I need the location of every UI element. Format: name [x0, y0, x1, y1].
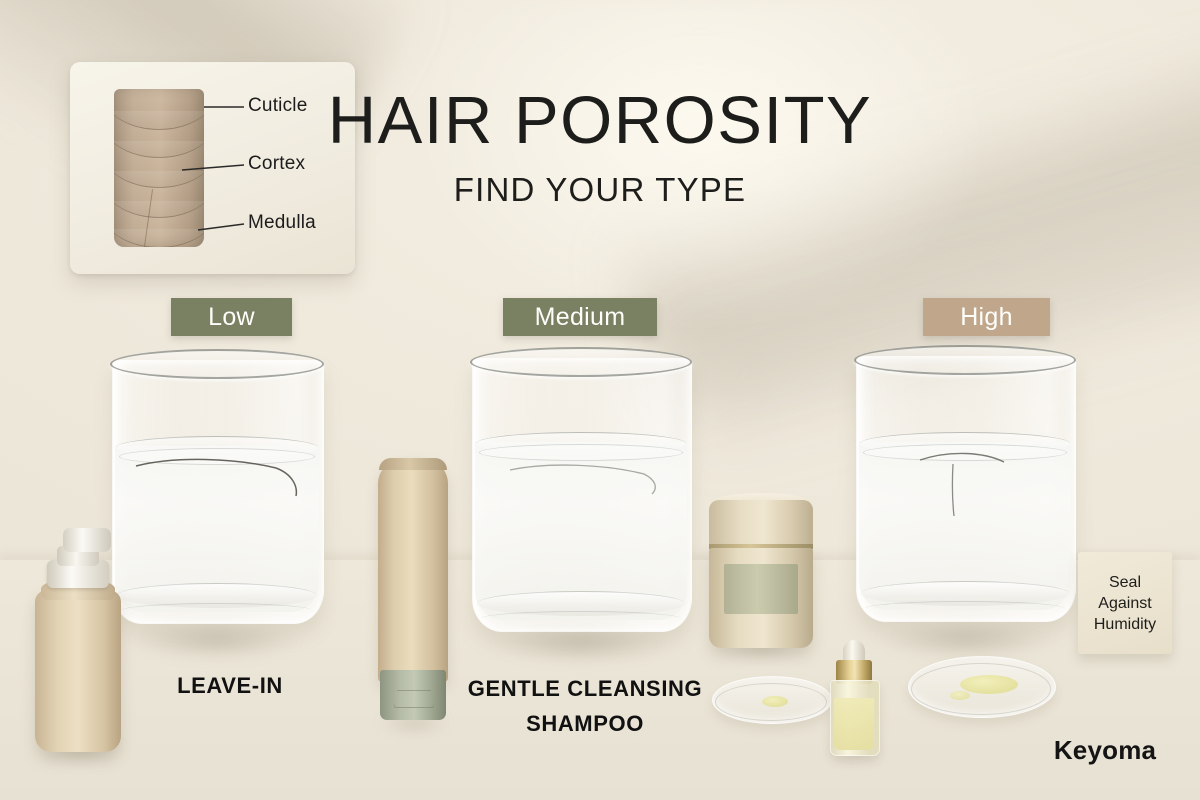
tube-crimp-seam: [379, 458, 447, 470]
glass-rim: [110, 349, 324, 379]
glass-base-ring-inner: [481, 611, 681, 626]
diagram-label-medulla: Medulla: [248, 212, 316, 234]
tube-cap-emboss: [394, 690, 434, 708]
seal-card-line-3: Humidity: [1094, 614, 1156, 635]
glass-rim: [470, 347, 692, 377]
oil-droplet-small: [950, 691, 970, 700]
seal-against-humidity-card: Seal Against Humidity: [1078, 552, 1172, 654]
product-caption-leave-in: LEAVE-IN: [110, 673, 350, 699]
product-caption-shampoo: GENTLE CLEANSING SHAMPOO: [450, 671, 720, 741]
hair-strand-high: [908, 440, 1038, 530]
glass-base-ring-inner: [865, 601, 1065, 616]
tube-body: [378, 458, 448, 682]
porosity-badge-low: Low: [171, 298, 292, 336]
petri-dish-large: [908, 656, 1054, 716]
oil-droplet: [762, 696, 788, 707]
petri-dish-small: [712, 676, 830, 722]
page-subtitle: FIND YOUR TYPE: [0, 171, 1200, 209]
water-glass-medium: [472, 358, 690, 630]
cream-jar-lid: [709, 500, 813, 546]
seal-card-line-1: Seal: [1094, 572, 1156, 593]
pump-bottle-head: [63, 528, 111, 552]
brand-name: Keyoma: [1030, 735, 1180, 766]
porosity-badge-medium: Medium: [503, 298, 657, 336]
water-glass-low: [112, 360, 322, 622]
product-cream-tube: [378, 458, 448, 724]
cream-jar-label: [724, 564, 798, 614]
product-cream-jar: [709, 500, 813, 660]
product-pump-bottle: [35, 540, 121, 752]
infographic-canvas: Cuticle Cortex Medulla HAIR POROSITY FIN…: [0, 0, 1200, 800]
page-title: HAIR POROSITY: [0, 82, 1200, 159]
product-dropper-bottle: [830, 642, 878, 754]
hair-strand-low: [126, 444, 316, 500]
seal-card-text: Seal Against Humidity: [1094, 572, 1156, 635]
hair-strand-medium: [502, 454, 672, 504]
glass-base-ring-inner: [121, 603, 313, 618]
seal-card-line-2: Against: [1094, 593, 1156, 614]
pump-bottle-body: [35, 590, 121, 752]
dropper-oil-fill: [834, 698, 874, 750]
glass-rim: [854, 345, 1076, 375]
water-glass-high: [856, 356, 1074, 620]
porosity-badge-high: High: [923, 298, 1050, 336]
oil-droplet: [960, 675, 1018, 694]
